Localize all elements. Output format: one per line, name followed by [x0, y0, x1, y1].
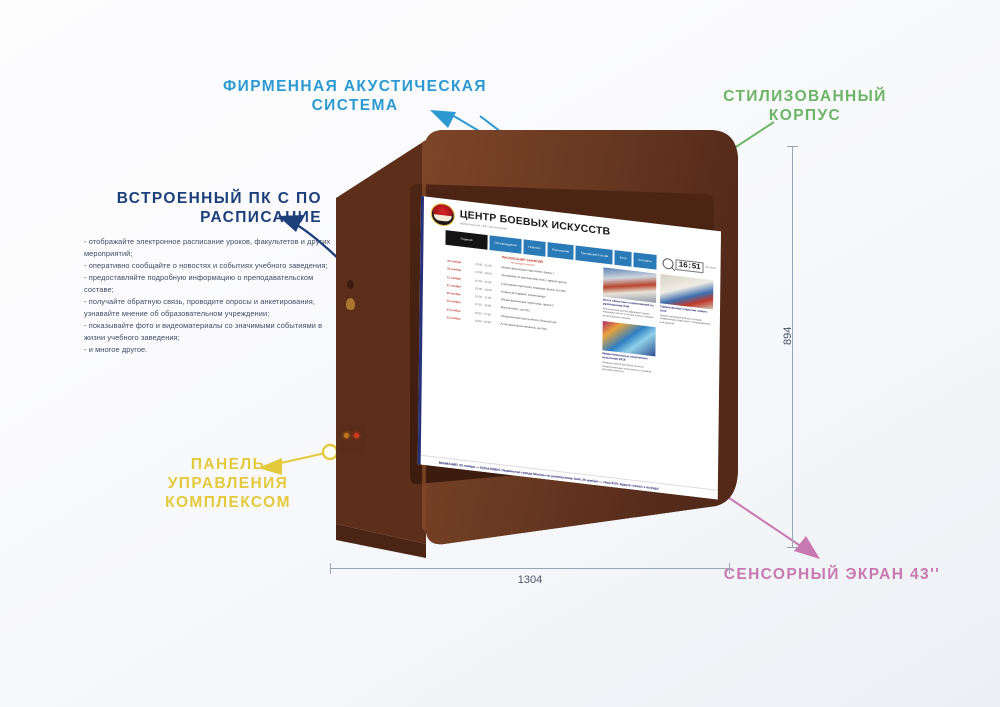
- web-page[interactable]: ЦЕНТР БОЕВЫХ ИСКУССТВ официальный сайт о…: [418, 196, 721, 500]
- schedule-date: 22 ноября: [447, 300, 471, 307]
- callout-speaker-label: ФИРМЕННАЯ АКУСТИЧЕСКАЯ СИСТЕМА: [205, 78, 505, 116]
- feature-item: - отображайте электронное расписание уро…: [84, 236, 336, 260]
- callout-case-label: СТИЛИЗОВАННЫЙ КОРПУС: [690, 88, 920, 126]
- news-thumbnail-group-photo: [603, 267, 656, 303]
- lock-keyhole-icon[interactable]: [347, 280, 354, 289]
- calendar-label: Ноя 2018: [705, 267, 715, 271]
- schedule-time: 12:00 - 13:00: [475, 303, 497, 309]
- schedule-time: 10:00 - 11:30: [475, 311, 497, 317]
- schedule-time: 10:00 - 11:30: [475, 295, 497, 301]
- callout-pc-label: ВСТРОЕННЫЙ ПК С ПО РАСПИСАНИЕ: [92, 190, 322, 228]
- news-card[interactable]: Межрегиональные спортивные испытания 201…: [602, 321, 656, 377]
- nav-item-contacts[interactable]: Контакты: [634, 252, 657, 269]
- dimension-line-width: [330, 568, 730, 569]
- feature-item: - предоставляйте подробную информацию о …: [84, 272, 336, 296]
- schedule-time: 14:00 - 15:30: [475, 319, 497, 325]
- feature-item: - оперативно сообщайте о новостях и собы…: [84, 260, 336, 272]
- poster-stage: ФИРМЕННАЯ АКУСТИЧЕСКАЯ СИСТЕМА СТИЛИЗОВА…: [0, 0, 1000, 707]
- lock-cylinder-icon[interactable]: [346, 298, 355, 310]
- schedule-date: 20 ноября: [447, 260, 471, 267]
- schedule-date: 20 ноября: [447, 268, 471, 275]
- news-column: Итоги областных соревнований по рукопашн…: [602, 267, 713, 384]
- schedule-time: 10:00 - 11:30: [475, 279, 497, 285]
- control-panel[interactable]: [340, 424, 366, 452]
- feature-item: - показывайте фото и видеоматериалы со з…: [84, 320, 336, 344]
- schedule-date: 21 ноября: [447, 284, 471, 291]
- dimension-width-label: 1304: [330, 574, 730, 586]
- schedule-date: 23 ноября: [447, 316, 471, 323]
- news-card[interactable]: Итоги областных соревнований по рукопашн…: [603, 267, 657, 323]
- callout-panel-label: ПАНЕЛЬ УПРАВЛЕНИЯ КОМПЛЕКСОМ: [128, 456, 328, 513]
- schedule-column: РАСПИСАНИЕ ЗАНЯТИЙ на текущую неделю 20 …: [446, 249, 597, 370]
- nav-item-photo[interactable]: Фото: [615, 250, 632, 267]
- schedule-date: 23 ноября: [447, 308, 471, 315]
- nav-item-news[interactable]: Новости: [523, 239, 545, 256]
- feature-list: - отображайте электронное расписание уро…: [84, 236, 336, 356]
- dimension-line-height: [792, 146, 793, 548]
- schedule-date: 21 ноября: [447, 276, 471, 283]
- schedule-time: 15:00 - 16:30: [475, 287, 497, 293]
- search-icon[interactable]: [663, 258, 674, 270]
- callout-touchscreen-label: СЕНСОРНЫЙ ЭКРАН 43'': [722, 566, 942, 585]
- schedule-time: 12:00 - 13:30: [475, 271, 497, 277]
- dimension-height-label: 894: [782, 327, 794, 345]
- nav-item-schedule[interactable]: Расписание: [547, 242, 574, 260]
- news-card[interactable]: Торжественное открытие нового зала Новый…: [660, 274, 714, 330]
- schedule-date: 22 ноября: [447, 292, 471, 299]
- schedule-time: 10:00 - 11:30: [475, 263, 497, 269]
- feature-item: - и многое другое.: [84, 344, 336, 356]
- led-red-icon: [354, 433, 359, 438]
- news-thumbnail-pool-event: [602, 321, 655, 357]
- led-orange-icon: [344, 433, 349, 438]
- touchscreen-display[interactable]: ЦЕНТР БОЕВЫХ ИСКУССТВ официальный сайт о…: [418, 196, 721, 500]
- martial-arts-emblem-icon: [431, 202, 455, 227]
- clock-time: 16:51: [676, 259, 704, 273]
- feature-item: - получайте обратную связь, проводите оп…: [84, 296, 336, 320]
